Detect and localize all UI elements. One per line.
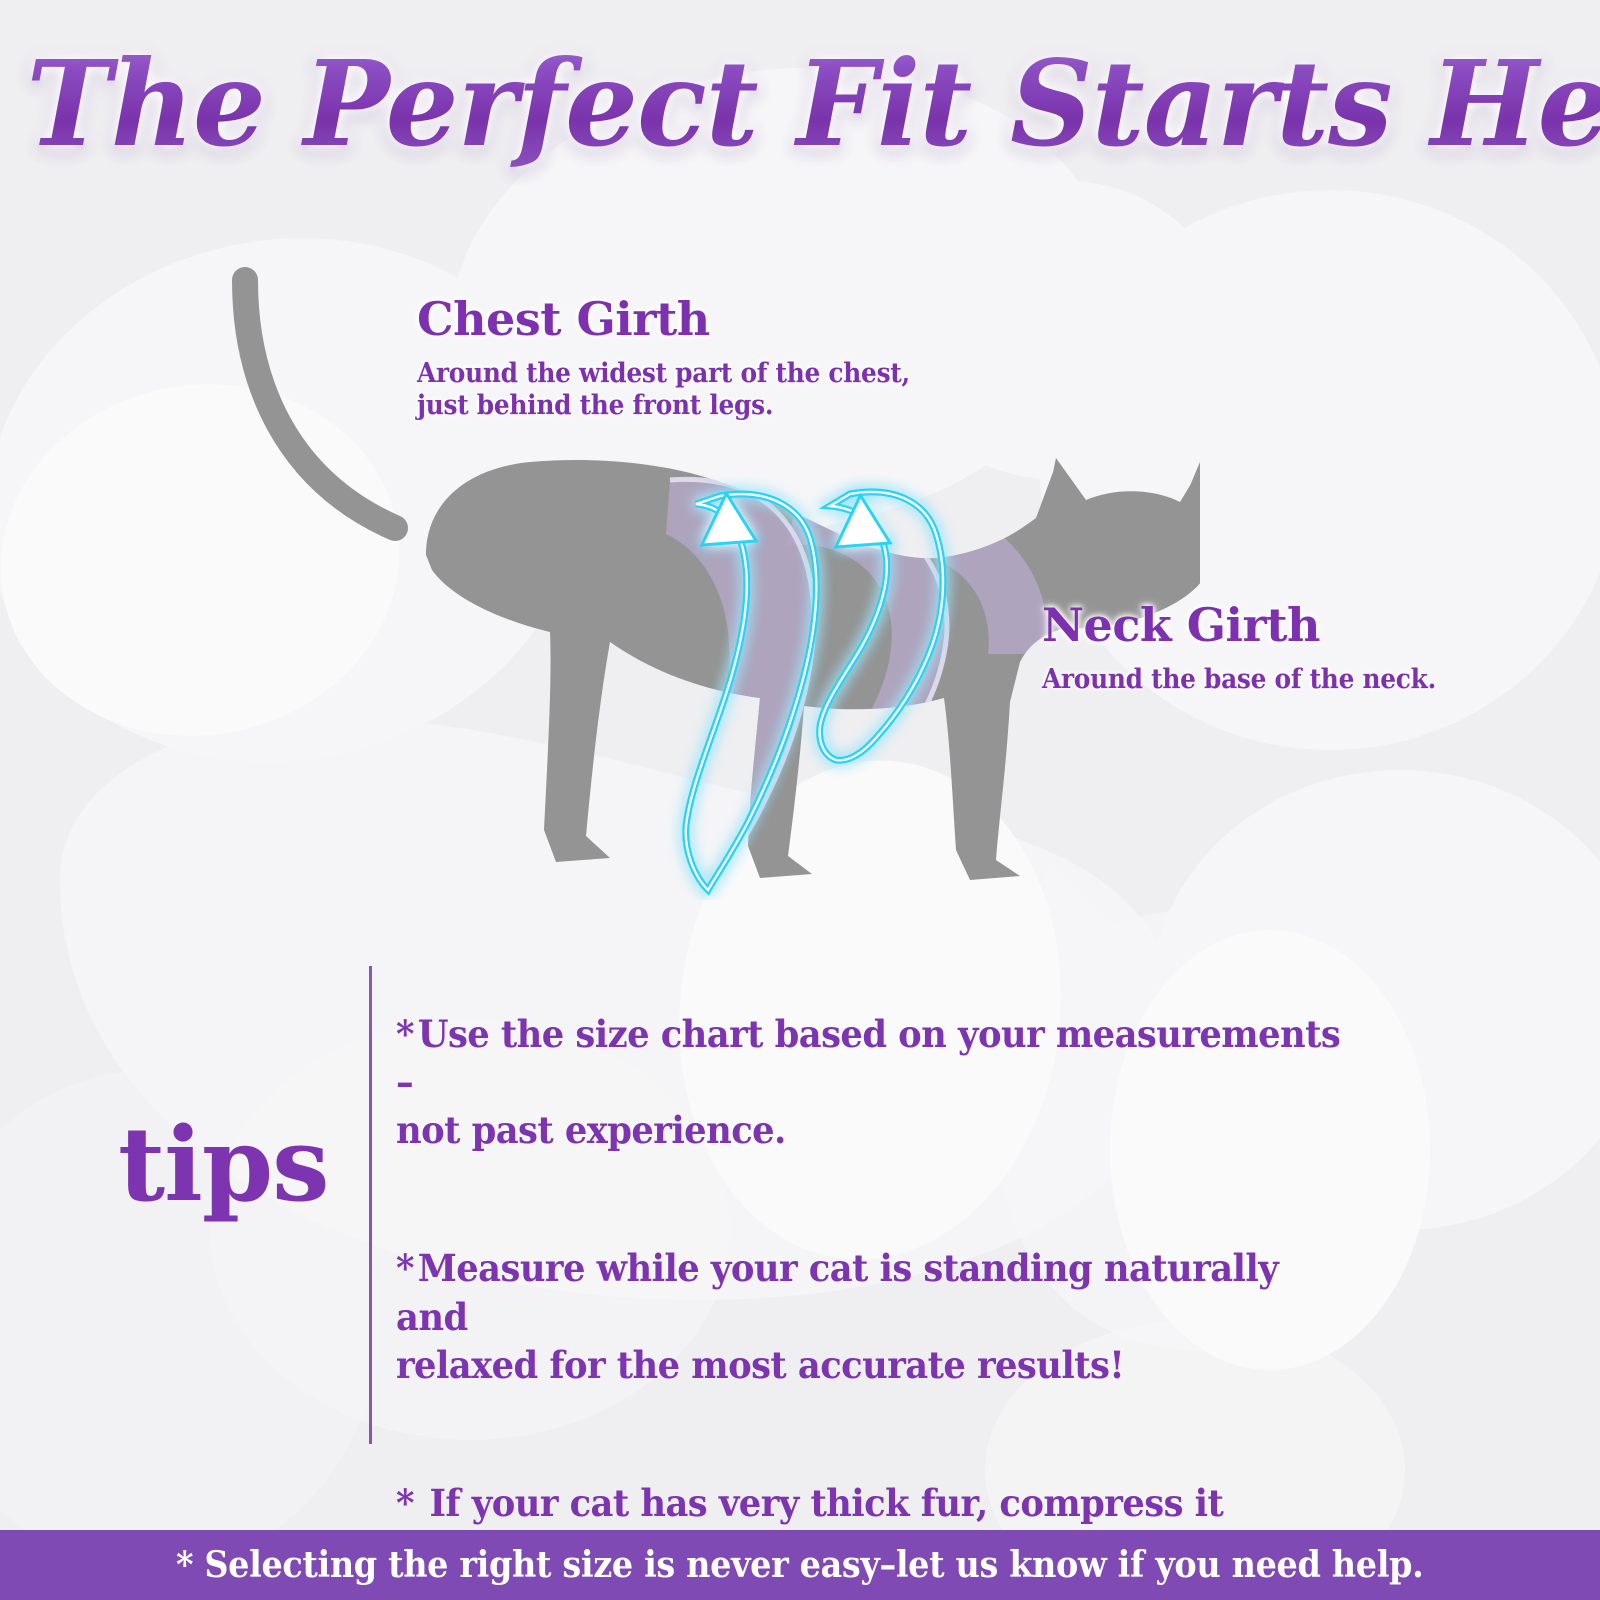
footer-bar: * Selecting the right size is never easy… xyxy=(0,1530,1600,1600)
tips-divider xyxy=(369,966,372,1444)
tip-bullet-star: * xyxy=(396,1012,414,1056)
tip-item: *Measure while your cat is standing natu… xyxy=(396,1196,1361,1388)
tip-bullet-star: * xyxy=(396,1246,414,1290)
chest-girth-heading: Chest Girth xyxy=(417,292,953,346)
tip-text: Use the size chart based on your measure… xyxy=(396,1012,1340,1152)
neck-girth-label-block: Neck Girth Around the base of the neck. xyxy=(1042,598,1470,696)
neck-girth-description: Around the base of the neck. xyxy=(1042,664,1436,696)
infographic-canvas: The Perfect Fit Starts Here xyxy=(0,0,1600,1600)
tip-item: *Use the size chart based on your measur… xyxy=(396,962,1361,1154)
chest-girth-label-block: Chest Girth Around the widest part of th… xyxy=(417,292,953,422)
footer-text: * Selecting the right size is never easy… xyxy=(176,1544,1423,1586)
neck-girth-heading: Neck Girth xyxy=(1042,598,1470,652)
tips-list: *Use the size chart based on your measur… xyxy=(396,962,1406,1600)
tip-text: Measure while your cat is standing natur… xyxy=(396,1246,1278,1386)
cat-tail xyxy=(245,280,395,528)
tips-label: tips xyxy=(118,1105,329,1225)
tip-bullet-star: * xyxy=(396,1481,414,1525)
page-title-wrapper: The Perfect Fit Starts Here xyxy=(0,34,1600,173)
page-title: The Perfect Fit Starts Here xyxy=(27,34,1600,173)
chest-girth-description: Around the widest part of the chest, jus… xyxy=(417,358,910,422)
